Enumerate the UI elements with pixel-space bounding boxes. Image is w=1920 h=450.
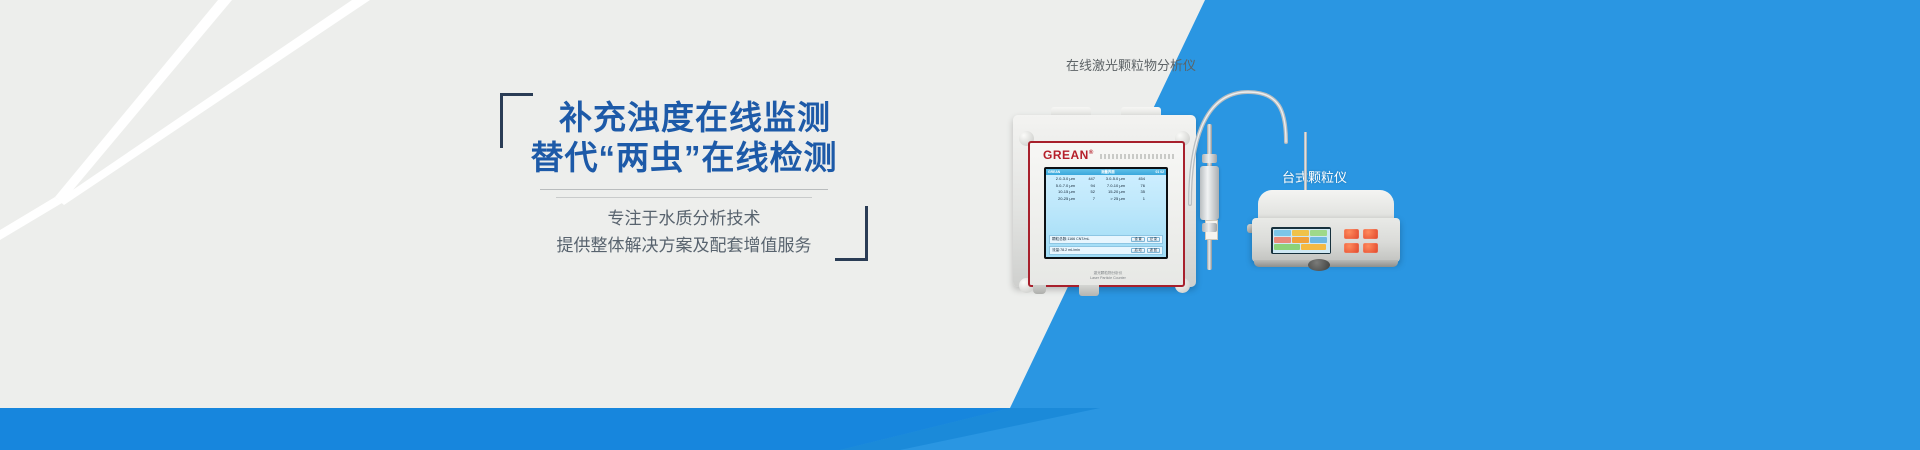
lcd-header-center: 测量界面	[1101, 171, 1115, 174]
headline-line-2: 替代“两虫”在线检测	[500, 138, 868, 178]
headline-line-1: 补充浊度在线监测	[500, 98, 868, 138]
brand-logo: GREAN®	[1043, 148, 1094, 162]
screen-tile	[1292, 237, 1309, 243]
benchtop-screen-bezel	[1271, 227, 1331, 254]
benchtop-keypad[interactable]	[1344, 229, 1378, 253]
screen-tile	[1292, 230, 1309, 236]
enclosure-body: GREAN® GREAN 测量界面 01 02 2.0-3.0 μm447	[1013, 115, 1196, 287]
sensor-cap-bottom	[1202, 223, 1217, 232]
hero-text-block: 补充浊度在线监测 替代“两虫”在线检测 专注于水质分析技术 提供整体解决方案及配…	[500, 93, 868, 261]
particle-range: 2.0-3.0 μm	[1049, 177, 1075, 181]
background-layer	[0, 0, 1920, 450]
background-shapes	[0, 0, 1920, 450]
product-label-benchtop-counter: 台式颗粒仪	[1282, 170, 1347, 186]
table-row: 5.0-7.0 μm94 7.0-10 μm76	[1049, 184, 1163, 188]
total-count-field: 颗粒总数:1166 CNT/mL	[1052, 238, 1129, 242]
hero-banner: 补充浊度在线监测 替代“两虫”在线检测 专注于水质分析技术 提供整体解决方案及配…	[0, 0, 1920, 450]
product-online-laser-particle-analyzer: GREAN® GREAN 测量界面 01 02 2.0-3.0 μm447	[1013, 105, 1196, 294]
particle-range: > 25 μm	[1099, 197, 1125, 201]
instrument-front-panel: GREAN® GREAN 测量界面 01 02 2.0-3.0 μm447	[1028, 141, 1185, 287]
particle-count: 52	[1075, 190, 1099, 194]
keypad-button-1[interactable]	[1344, 229, 1359, 239]
screen-tile	[1310, 230, 1327, 236]
page-title: 补充浊度在线监测 替代“两虫”在线检测	[500, 98, 868, 178]
benchtop-sample-valve[interactable]	[1308, 259, 1330, 271]
cable-gland	[1033, 285, 1046, 294]
particle-range: 5.0-7.0 μm	[1049, 184, 1075, 188]
subtitle-line-1: 专注于水质分析技术	[500, 205, 868, 232]
flow-rate-field: 流量:78.2 mL/min	[1052, 249, 1129, 253]
divider-upper	[540, 189, 828, 190]
keypad-button-2[interactable]	[1363, 229, 1378, 239]
hero-subtitle: 专注于水质分析技术 提供整体解决方案及配套增值服务	[500, 205, 868, 259]
lcd-header-left: GREAN	[1048, 171, 1060, 174]
particle-range: 3.0-5.0 μm	[1099, 177, 1125, 181]
divider-lower	[556, 197, 812, 198]
inline-sensor-column	[1199, 124, 1221, 270]
lcd-footer: 颗粒总数:1166 CNT/mL 设 置 记 录 流量:78.2 mL/min …	[1046, 234, 1166, 257]
lcd-field-row-2: 流量:78.2 mL/min 启 动 返 回	[1049, 246, 1163, 255]
subtitle-line-2: 提供整体解决方案及配套增值服务	[500, 232, 868, 259]
lcd-data-table: 2.0-3.0 μm447 3.0-5.0 μm454 5.0-7.0 μm94…	[1046, 175, 1166, 233]
screen-tile	[1274, 244, 1300, 250]
lcd-button-settings[interactable]: 设 置	[1131, 237, 1144, 242]
lcd-button-back[interactable]: 返 回	[1147, 248, 1160, 253]
benchtop-front-panel	[1252, 218, 1400, 262]
particle-count: 35	[1125, 190, 1149, 194]
lcd-bezel: GREAN 测量界面 01 02 2.0-3.0 μm447 3.0-5.0 μ…	[1044, 167, 1168, 259]
table-row: 10-15 μm52 15-20 μm35	[1049, 190, 1163, 194]
instrument-caption: 激光颗粒物分析仪 Laser Particle Counter	[1058, 271, 1158, 281]
particle-count: 7	[1075, 197, 1099, 201]
keypad-button-3[interactable]	[1344, 243, 1359, 253]
registered-mark: ®	[1089, 150, 1094, 156]
screen-tile	[1274, 237, 1291, 243]
screen-tile	[1310, 237, 1327, 243]
screen-tile	[1274, 230, 1291, 236]
particle-range: 15-20 μm	[1099, 190, 1125, 194]
brand-name: GREAN	[1043, 148, 1089, 162]
lcd-display[interactable]: GREAN 测量界面 01 02 2.0-3.0 μm447 3.0-5.0 μ…	[1046, 169, 1166, 257]
lcd-header-right: 01 02	[1156, 171, 1165, 174]
brand-texture-bar	[1100, 154, 1175, 159]
benchtop-touchscreen[interactable]	[1273, 229, 1330, 253]
product-benchtop-particle-counter	[1252, 190, 1400, 268]
particle-count: 1	[1125, 197, 1149, 201]
particle-count: 76	[1125, 184, 1149, 188]
lcd-button-record[interactable]: 记 录	[1147, 237, 1160, 242]
particle-range: 10-15 μm	[1049, 190, 1075, 194]
sensor-cap-top	[1202, 154, 1217, 163]
table-row: 20-25 μm7 > 25 μm1	[1049, 197, 1163, 201]
particle-range: 7.0-10 μm	[1099, 184, 1125, 188]
sensor-housing	[1200, 166, 1219, 220]
particle-count: 94	[1075, 184, 1099, 188]
lcd-field-row-1: 颗粒总数:1166 CNT/mL 设 置 记 录	[1049, 235, 1163, 244]
cable-port	[1079, 285, 1099, 296]
blue-bottom-band	[0, 408, 1010, 450]
lcd-button-start[interactable]: 启 动	[1131, 248, 1144, 253]
particle-count: 454	[1125, 177, 1149, 181]
sample-probe-rod	[1304, 132, 1307, 192]
table-row: 2.0-3.0 μm447 3.0-5.0 μm454	[1049, 177, 1163, 181]
instrument-caption-en: Laser Particle Counter	[1058, 276, 1158, 281]
keypad-button-4[interactable]	[1363, 243, 1378, 253]
screen-tile	[1301, 244, 1326, 250]
product-label-online-analyzer: 在线激光颗粒物分析仪	[1066, 58, 1196, 74]
particle-range: 20-25 μm	[1049, 197, 1075, 201]
particle-count: 447	[1075, 177, 1099, 181]
